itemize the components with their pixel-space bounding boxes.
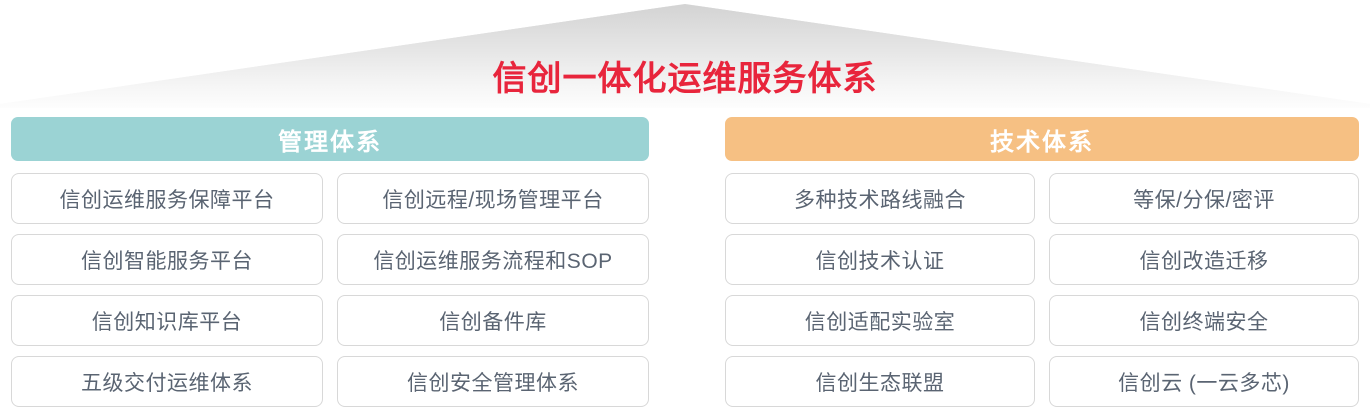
page-title: 信创一体化运维服务体系 [0,58,1370,100]
group-grid-technology: 多种技术路线融合 等保/分保/密评 信创技术认证 信创改造迁移 信创适配实验室 … [725,173,1359,407]
cell-item[interactable]: 等保/分保/密评 [1049,173,1359,224]
group-technology: 技术体系 多种技术路线融合 等保/分保/密评 信创技术认证 信创改造迁移 信创适… [725,117,1359,407]
group-grid-management: 信创运维服务保障平台 信创远程/现场管理平台 信创智能服务平台 信创运维服务流程… [11,173,649,407]
group-management: 管理体系 信创运维服务保障平台 信创远程/现场管理平台 信创智能服务平台 信创运… [11,117,649,407]
cell-item[interactable]: 信创改造迁移 [1049,234,1359,285]
cell-item[interactable]: 信创远程/现场管理平台 [337,173,649,224]
cell-item[interactable]: 信创安全管理体系 [337,356,649,407]
cell-item[interactable]: 信创适配实验室 [725,295,1035,346]
cell-item[interactable]: 信创知识库平台 [11,295,323,346]
cell-item[interactable]: 信创生态联盟 [725,356,1035,407]
cell-item[interactable]: 信创终端安全 [1049,295,1359,346]
group-header-technology: 技术体系 [725,117,1359,161]
cell-item[interactable]: 信创运维服务保障平台 [11,173,323,224]
cell-item[interactable]: 多种技术路线融合 [725,173,1035,224]
group-header-management: 管理体系 [11,117,649,161]
cell-item[interactable]: 信创备件库 [337,295,649,346]
cell-item[interactable]: 信创技术认证 [725,234,1035,285]
cell-item[interactable]: 信创云 (一云多芯) [1049,356,1359,407]
diagram-canvas: 信创一体化运维服务体系 管理体系 信创运维服务保障平台 信创远程/现场管理平台 … [0,0,1370,418]
cell-item[interactable]: 信创智能服务平台 [11,234,323,285]
cell-item[interactable]: 信创运维服务流程和SOP [337,234,649,285]
cell-item[interactable]: 五级交付运维体系 [11,356,323,407]
